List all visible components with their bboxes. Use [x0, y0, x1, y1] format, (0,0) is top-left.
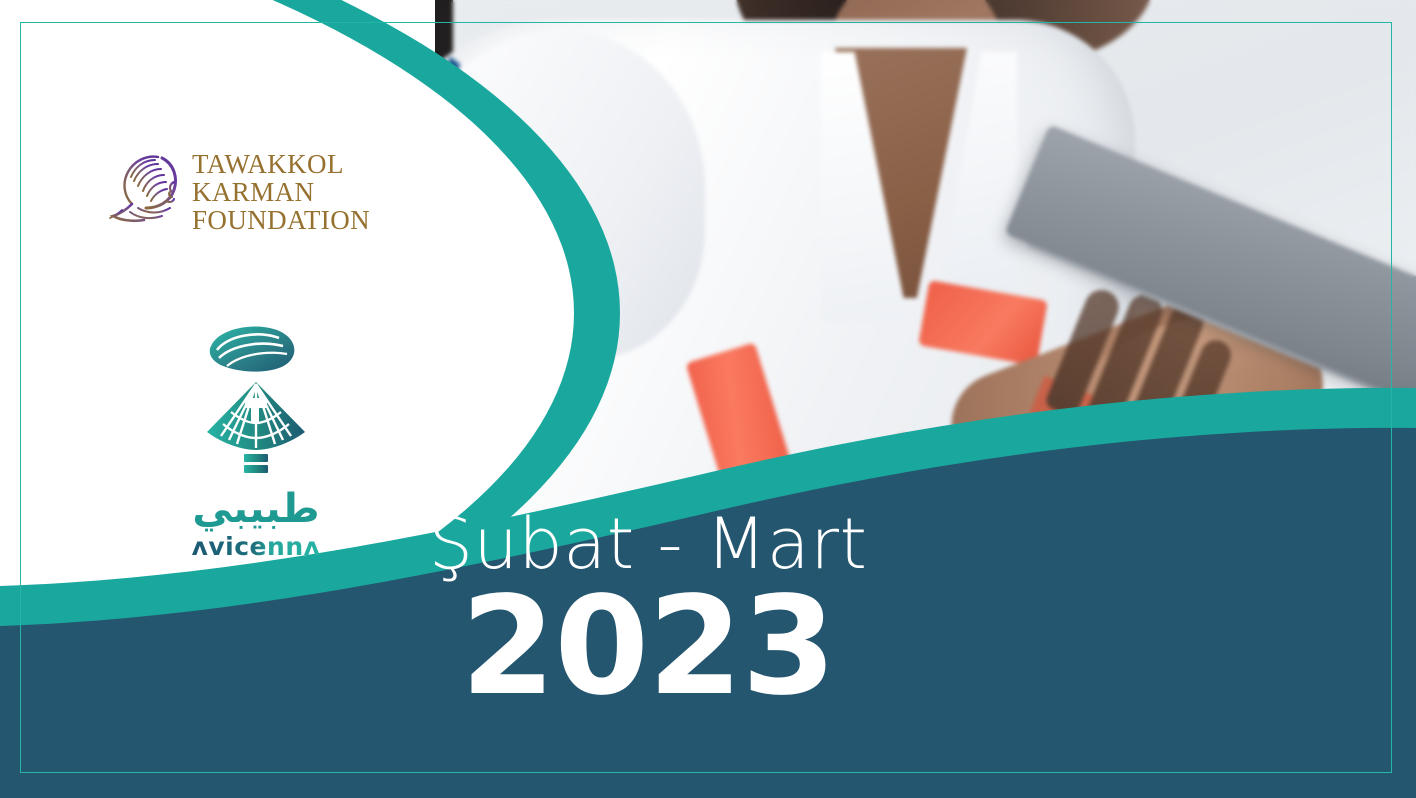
- avicenna-latin-wordmark: ᴧvicennᴧ: [186, 531, 326, 566]
- avicenna-logo: طبيبي ᴧvicennᴧ: [186, 320, 326, 566]
- logo-stack: TAWAKKOL KARMAN FOUNDATION: [108, 150, 428, 566]
- tawakkol-karman-foundation-logo: TAWAKKOL KARMAN FOUNDATION: [108, 150, 428, 234]
- astrolabe-icon: [197, 465, 315, 482]
- svg-text:ᴧvicennᴧ: ᴧvicennᴧ: [192, 532, 321, 561]
- report-cover-page: Şubat - Mart 2023: [0, 0, 1416, 798]
- avicenna-arabic-wordmark: طبيبي: [186, 489, 326, 529]
- foundation-wordmark: TAWAKKOL KARMAN FOUNDATION: [192, 150, 370, 234]
- date-year-label: 2023: [0, 578, 1296, 717]
- veiled-woman-profile-icon: [108, 152, 182, 233]
